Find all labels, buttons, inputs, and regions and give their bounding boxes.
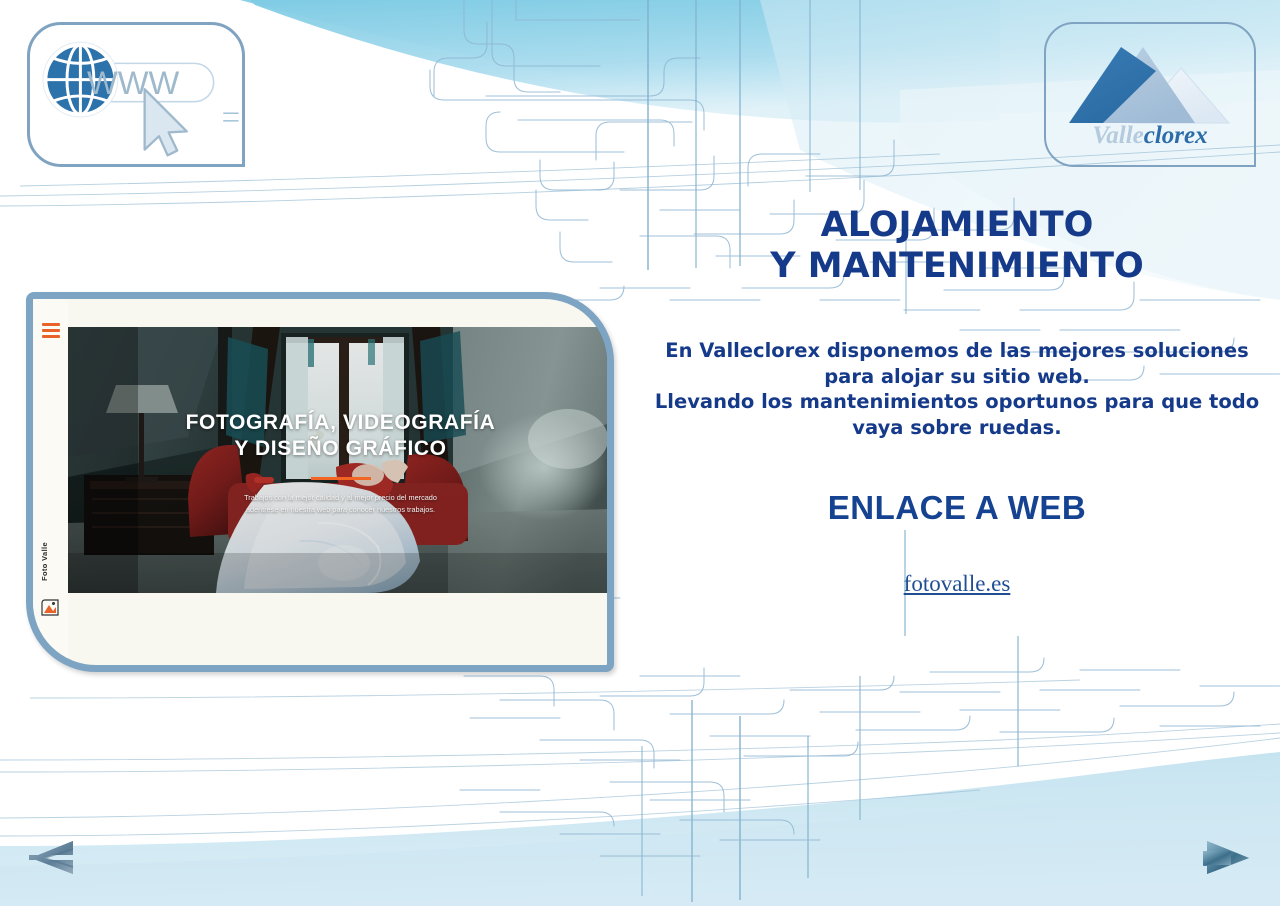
body-line-2: para alojar su sitio web. — [652, 364, 1262, 390]
previous-slide-button[interactable] — [29, 833, 79, 875]
page-title-line-2: Y MANTENIMIENTO — [652, 246, 1262, 287]
web-link[interactable]: fotovalle.es — [904, 571, 1011, 596]
hero-title-line-2: Y DISEÑO GRÁFICO — [68, 436, 613, 462]
hero-subtitle-line-2: adentrese en nuestra web para conocer nu… — [68, 504, 613, 516]
content-column: ALOJAMIENTO Y MANTENIMIENTO En Valleclor… — [652, 205, 1262, 597]
brand-logo-frame: Valleclorex — [1044, 22, 1256, 167]
mockup-sidebar: Foto Valle — [33, 299, 68, 665]
hero-title: FOTOGRAFÍA, VIDEOGRAFÍA Y DISEÑO GRÁFICO — [68, 410, 613, 462]
hero-title-line-1: FOTOGRAFÍA, VIDEOGRAFÍA — [68, 410, 613, 436]
hero-subtitle: Trabajos con la mejor calidad y al mejor… — [68, 492, 613, 515]
section-heading: ENLACE A WEB — [652, 489, 1262, 527]
mockup-hero: FOTOGRAFÍA, VIDEOGRAFÍA Y DISEÑO GRÁFICO… — [68, 327, 613, 593]
www-label: WWW — [87, 64, 179, 101]
logo-text-light: Valle — [1092, 122, 1143, 149]
hamburger-menu-icon[interactable] — [42, 323, 60, 342]
next-slide-button[interactable] — [1199, 833, 1249, 875]
hero-accent-rule — [311, 477, 371, 480]
www-badge-frame: WWW — [27, 22, 245, 167]
mockup-brand-label: Foto Valle — [40, 542, 49, 581]
website-mockup[interactable]: Foto Valle — [26, 292, 614, 672]
body-line-1: En Valleclorex disponemos de las mejores… — [652, 338, 1262, 364]
web-link-container: fotovalle.es — [652, 571, 1262, 597]
valleclorex-logo-icon: Valleclorex — [1055, 31, 1245, 159]
svg-text:Valleclorex: Valleclorex — [1092, 122, 1207, 149]
body-paragraph: En Valleclorex disponemos de las mejores… — [652, 338, 1262, 440]
page-title-line-1: ALOJAMIENTO — [652, 205, 1262, 246]
hero-subtitle-line-1: Trabajos con la mejor calidad y al mejor… — [68, 492, 613, 504]
www-badge-graphic: WWW — [30, 25, 242, 164]
body-line-4: vaya sobre ruedas. — [652, 415, 1262, 441]
foto-valle-logo-icon — [40, 597, 62, 619]
page-title: ALOJAMIENTO Y MANTENIMIENTO — [652, 205, 1262, 287]
logo-text-dark: clorex — [1144, 122, 1208, 149]
body-line-3: Llevando los mantenimientos oportunos pa… — [652, 389, 1262, 415]
presentation-slide: WWW — [0, 0, 1280, 906]
